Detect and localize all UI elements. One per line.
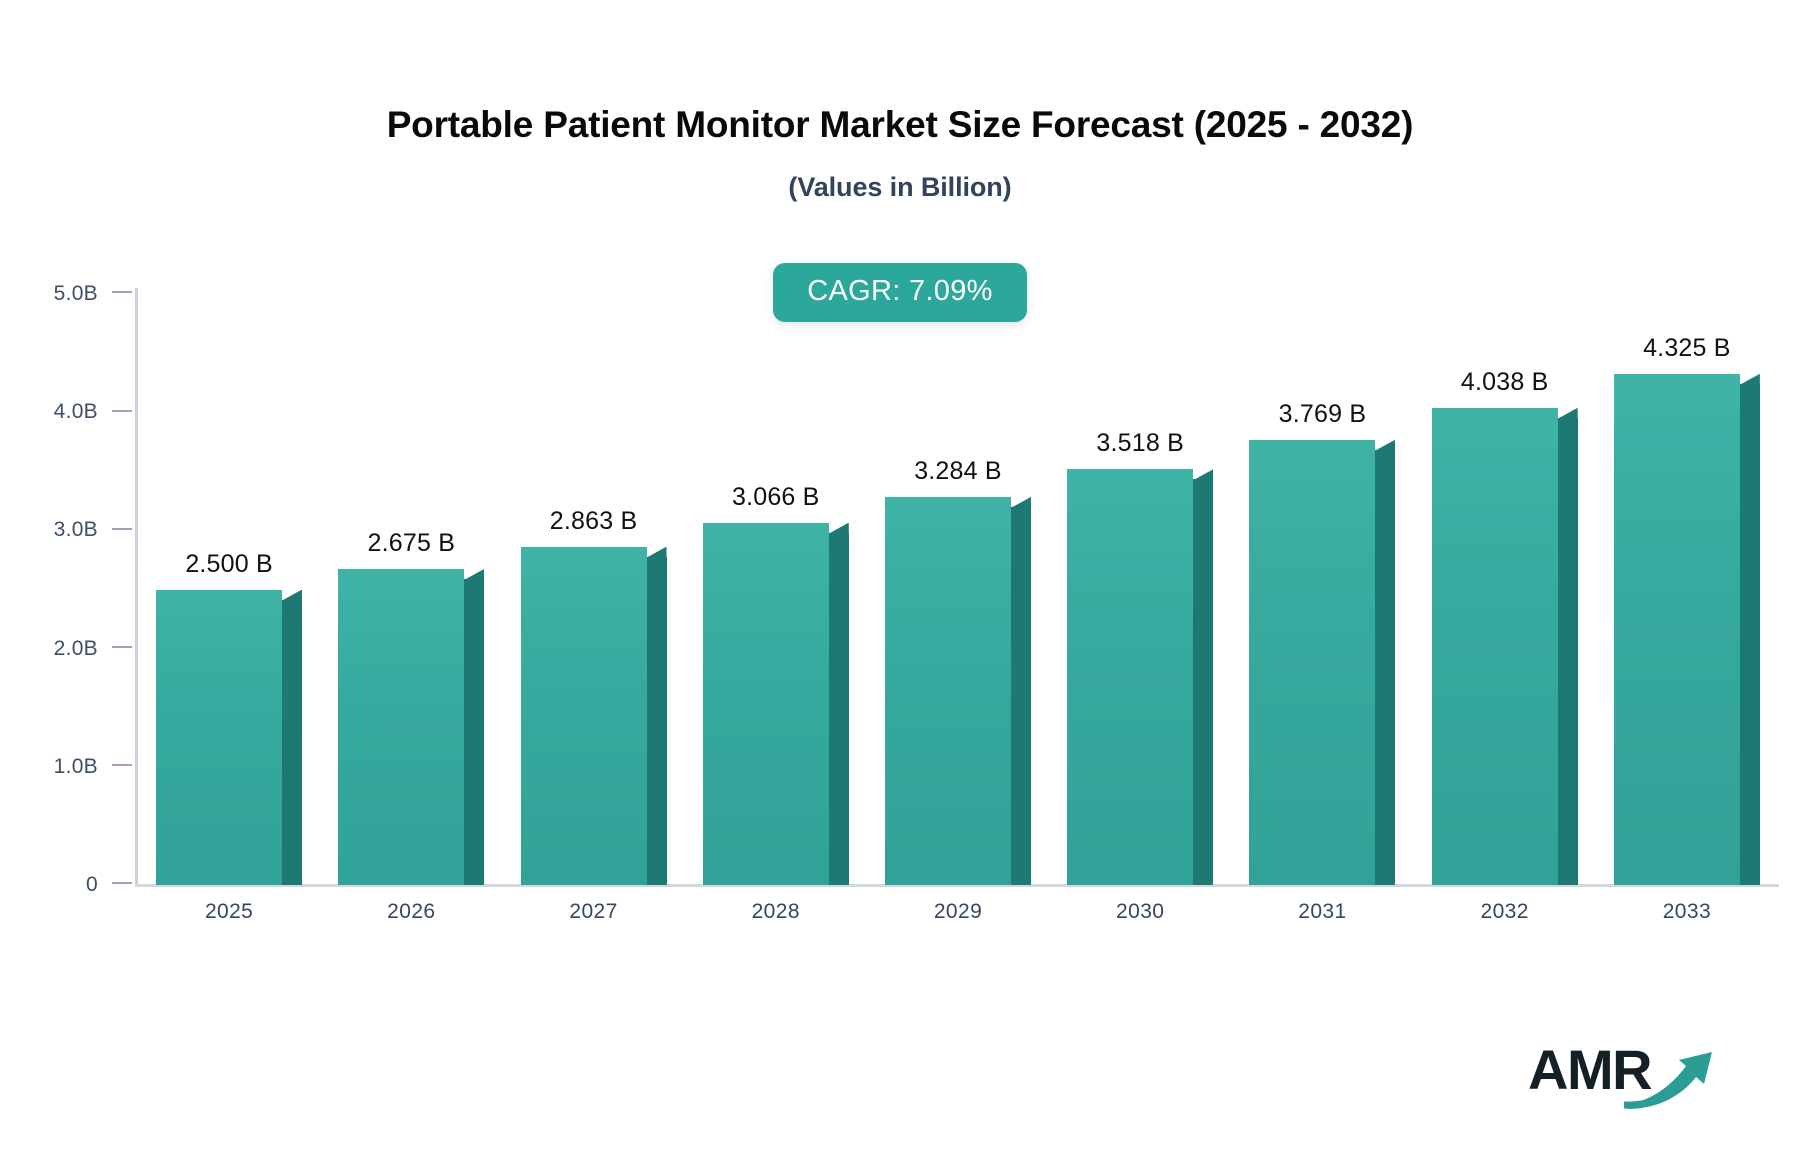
plot-area: 01.0B2.0B3.0B4.0B5.0B 202520262027202820…: [0, 0, 1800, 1156]
bar-group[interactable]: [521, 0, 667, 1156]
x-axis-tick-label: 2030: [1060, 900, 1220, 924]
bar-group[interactable]: [1614, 0, 1760, 1156]
bar-side-face: [464, 579, 484, 885]
bar-side-face: [647, 557, 667, 885]
bar-group[interactable]: [1249, 0, 1395, 1156]
bar-front-face[interactable]: [1614, 374, 1740, 885]
bar-value-label: 2.500 B: [128, 550, 330, 579]
bar-value-label: 4.038 B: [1404, 368, 1606, 397]
bar-group[interactable]: [1067, 0, 1213, 1156]
bar-side-face: [1740, 384, 1760, 885]
bar-value-label: 3.284 B: [857, 457, 1059, 486]
x-axis-tick-label: 2029: [878, 900, 1038, 924]
bar-group[interactable]: [703, 0, 849, 1156]
amr-logo: AMR: [1528, 1040, 1718, 1114]
bar-front-face[interactable]: [521, 547, 647, 885]
bar-value-label: 2.863 B: [492, 507, 694, 536]
x-axis-tick-label: 2027: [514, 900, 674, 924]
bar-value-label: 3.066 B: [675, 483, 877, 512]
chart-canvas: Portable Patient Monitor Market Size For…: [0, 0, 1800, 1156]
bar-value-label: 3.769 B: [1221, 400, 1423, 429]
x-axis-tick-label: 2033: [1607, 900, 1767, 924]
bar-value-label: 4.325 B: [1586, 334, 1788, 363]
bar-value-label: 3.518 B: [1039, 429, 1241, 458]
bar-group[interactable]: [885, 0, 1031, 1156]
bar-group[interactable]: [338, 0, 484, 1156]
bar-side-face: [1375, 450, 1395, 885]
bar-front-face[interactable]: [703, 523, 829, 885]
bar-front-face[interactable]: [338, 569, 464, 885]
growth-arrow-icon: [1624, 1046, 1718, 1110]
bar-side-face: [1558, 418, 1578, 885]
bar-front-face[interactable]: [1432, 408, 1558, 885]
x-axis-tick-label: 2032: [1425, 900, 1585, 924]
bar-side-face: [282, 600, 302, 886]
x-axis-tick-label: 2026: [331, 900, 491, 924]
bar-group[interactable]: [1432, 0, 1578, 1156]
bar-side-face: [1193, 479, 1213, 885]
bar-side-face: [829, 533, 849, 885]
bar-front-face[interactable]: [885, 497, 1011, 885]
bar-side-face: [1011, 507, 1031, 885]
x-axis-tick-label: 2031: [1242, 900, 1402, 924]
bar-front-face[interactable]: [156, 590, 282, 886]
x-axis-tick-label: 2025: [149, 900, 309, 924]
bar-front-face[interactable]: [1249, 440, 1375, 885]
x-axis-tick-label: 2028: [696, 900, 856, 924]
bar-front-face[interactable]: [1067, 469, 1193, 885]
bar-value-label: 2.675 B: [310, 529, 512, 558]
